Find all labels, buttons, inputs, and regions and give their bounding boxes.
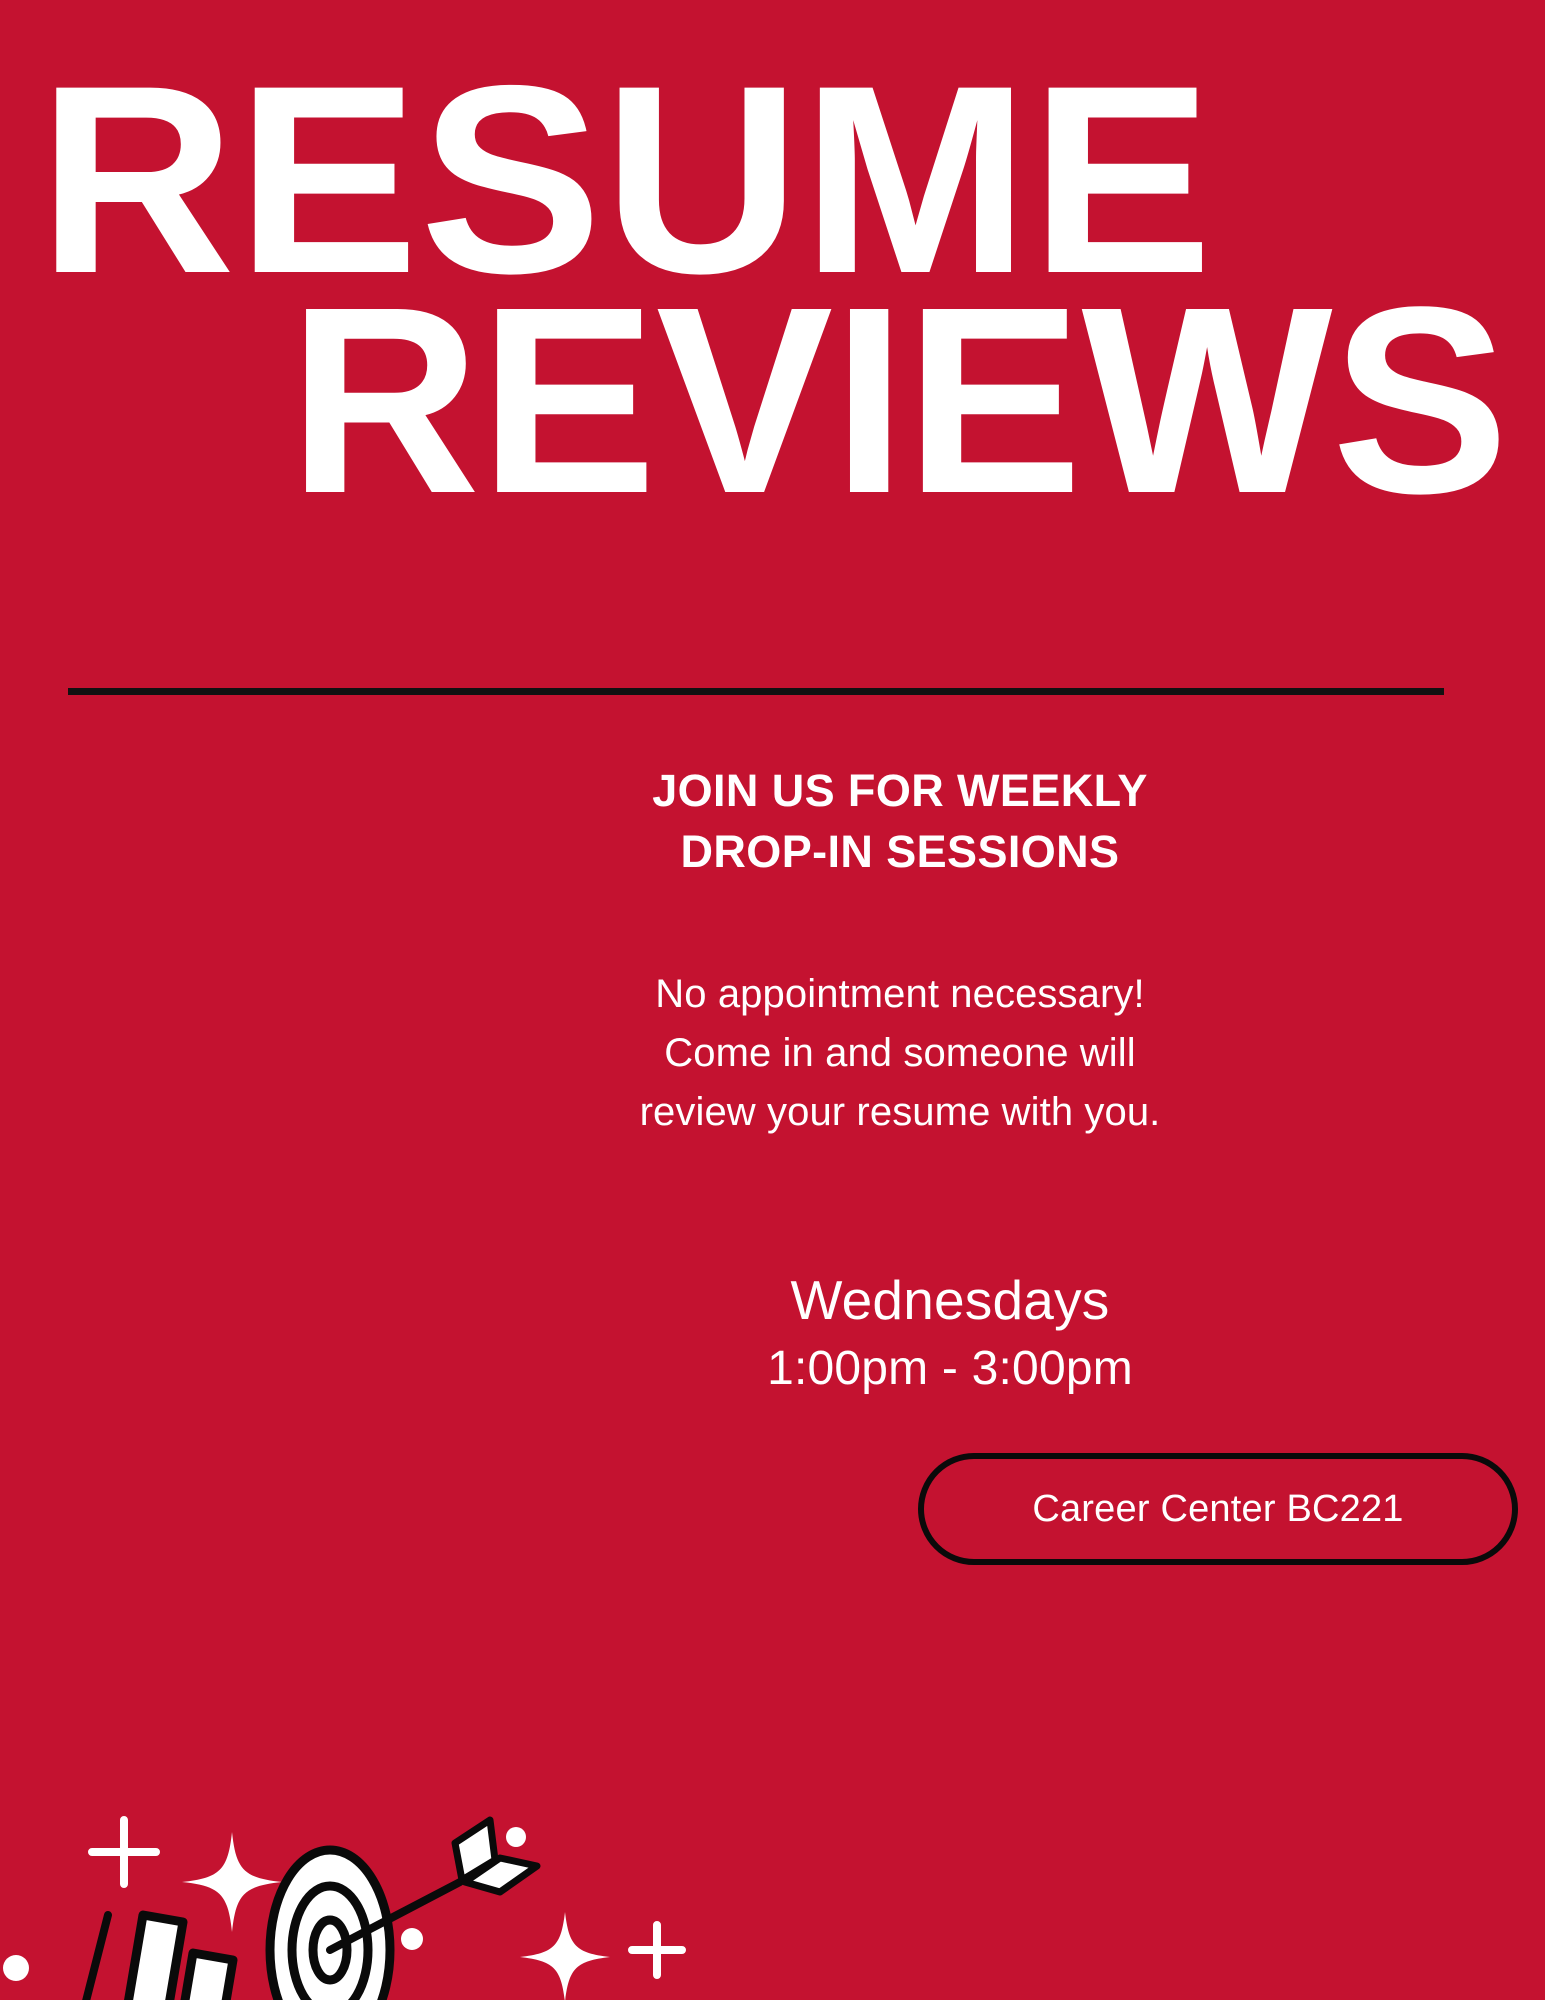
subtitle-line-1: JOIN US FOR WEEKLY [600,760,1200,821]
page-title: RESUME REVIEWS [38,62,1510,518]
illustration-group [0,820,1100,2000]
illustration-svg [0,820,1100,2000]
title-divider-rule [68,688,1444,695]
poster-canvas: RESUME REVIEWS JOIN US FOR WEEKLY DROP-I… [0,0,1545,2000]
title-line-2: REVIEWS [38,284,1510,518]
bar-chart-icon [63,1915,278,2000]
target-arrow-icon [270,1820,537,2000]
